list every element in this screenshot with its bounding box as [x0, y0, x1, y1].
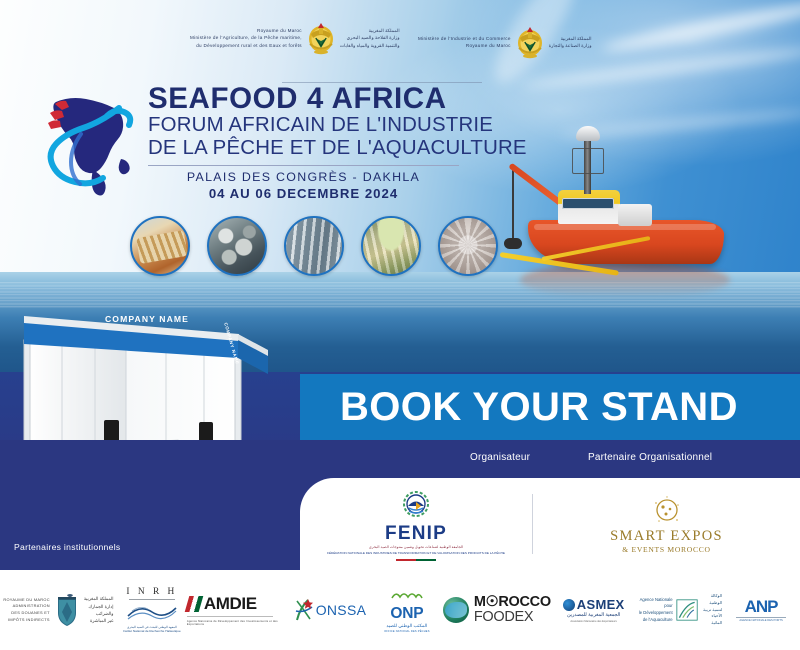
douanes-logo: ROYAUME DU MAROC ADMINISTRATION DES DOUA…: [0, 593, 117, 627]
ministry-industry-block: Ministère de l'Industrie et du Commerce …: [418, 24, 592, 60]
fenip-emblem-icon: [399, 489, 433, 523]
anp-subtitle: AGENCE NATIONALE DES PORTS: [736, 619, 786, 623]
anda-arabic-text: الوكالة الوطنية لتنمية تربية الأحياء الم…: [701, 593, 722, 627]
smart-expos-name: SMART EXPOS: [610, 529, 723, 544]
amdie-flag-bars-icon: [185, 596, 204, 612]
ministry-ar-text: المملكة المغربية وزارة الصناعة والتجارة: [549, 35, 592, 49]
smart-expos-subtitle: & EVENTS MOROCCO: [622, 545, 710, 554]
asmex-subtitle-ar: الجمعية المغربية للمصدرين: [563, 612, 625, 619]
inrh-title: I N R H: [123, 587, 181, 597]
onp-subtitle-ar: المكتب الوطني للصيد: [384, 623, 430, 630]
title-divider: [148, 165, 459, 166]
inrh-subtitle-fr: Institut National de Recherche Halieutiq…: [123, 629, 181, 633]
morocco-coat-of-arms: [516, 24, 544, 60]
organiser-label: Organisateur: [470, 452, 530, 463]
jarred-seafood-icon: [361, 216, 421, 276]
douanes-shield-icon: [54, 593, 80, 627]
onp-logo: ONP المكتب الوطني للصيد OFFICE NATIONAL …: [371, 587, 443, 633]
organisational-partner-label: Partenaire Organisationnel: [588, 452, 712, 463]
douanes-arabic-text: المملكة المغربية إدارة الجمارك والضرائب …: [84, 595, 114, 625]
octopus-icon: [438, 216, 498, 276]
onp-subtitle-fr: OFFICE NATIONAL DES PÊCHES: [384, 630, 430, 633]
partner-logo-strip: ROYAUME DU MAROC ADMINISTRATION DES DOUA…: [0, 570, 800, 650]
foodex-title-2: FOODEX: [474, 610, 551, 625]
asmex-title: ASMEX: [577, 597, 625, 612]
inrh-logo: I N R H المعهد الوطني للبحث في الصيد الب…: [117, 587, 187, 634]
anp-divider: [736, 617, 786, 618]
anda-emblem-icon: [676, 597, 698, 623]
anda-french-text: Agence Nationale pour le Développement d…: [636, 597, 672, 624]
onssa-star-icon: [294, 598, 314, 622]
oysters-icon: [207, 216, 267, 276]
foodex-title-1: M☉ROCCO: [474, 595, 551, 610]
subtitle-line-1: FORUM AFRICAIN DE L'INDUSTRIE: [148, 114, 478, 137]
canned-sardines-icon: [130, 216, 190, 276]
inrh-wave-icon: [126, 602, 178, 620]
foodex-globe-icon: [443, 597, 469, 623]
ministry-ar-text: المملكة المغربية وزارة الفلاحة والصيد ال…: [340, 27, 400, 48]
onp-birds-icon: [390, 590, 424, 600]
seafood-icon-row: [130, 216, 498, 276]
africa-map-logo: [33, 82, 145, 204]
ministry-fr-text: Ministère de l'Industrie et du Commerce …: [418, 35, 511, 49]
booth-company-name: COMPANY NAME: [72, 314, 222, 324]
anda-logo: Agence Nationale pour le Développement d…: [636, 593, 722, 627]
fresh-fish-icon: [284, 216, 344, 276]
institutional-partners-label: Partenaires institutionnels: [14, 542, 121, 552]
book-your-stand-label: BOOK YOUR STAND: [340, 385, 738, 430]
asmex-logo: ASMEX الجمعية المغربية للمصدرين Associat…: [551, 597, 637, 622]
onssa-logo: ONSSA: [289, 598, 371, 622]
fenip-logo: FENIP الجامعة الوطنية لصناعات تحويل وتثم…: [300, 478, 532, 570]
morocco-foodex-logo: M☉ROCCO FOODEX: [443, 595, 551, 625]
anp-title: ANP: [736, 598, 786, 615]
poster-root: Royaume du Maroc Ministère de l'Agricult…: [0, 0, 800, 650]
ministry-agriculture-block: Royaume du Maroc Ministère de l'Agricult…: [190, 20, 400, 56]
organiser-card: FENIP الجامعة الوطنية لصناعات تحويل وتثم…: [300, 478, 800, 570]
fenip-name: FENIP: [385, 524, 447, 543]
douanes-french-text: ROYAUME DU MAROC ADMINISTRATION DES DOUA…: [3, 597, 49, 624]
event-dates: 04 AU 06 DECEMBRE 2024: [148, 186, 459, 202]
inrh-divider: [129, 599, 175, 600]
fishing-vessel-photo: [480, 120, 800, 320]
asmex-subtitle-fr: Association Marocaine des Exportateurs: [563, 620, 625, 623]
amdie-divider: [187, 616, 273, 617]
asmex-dot-icon: [563, 599, 575, 611]
morocco-flag-bar: [396, 559, 436, 562]
onssa-title: ONSSA: [316, 602, 367, 618]
anp-logo: ANP AGENCE NATIONALE DES PORTS: [722, 598, 800, 623]
ministry-fr-text: Royaume du Maroc Ministère de l'Agricult…: [190, 27, 302, 48]
smart-expos-emblem-icon: [650, 494, 684, 528]
page-title: SEAFOOD 4 AFRICA: [148, 84, 478, 114]
subtitle-line-2: DE LA PÊCHE ET DE L'AQUACULTURE: [148, 137, 478, 160]
event-title-block: SEAFOOD 4 AFRICA FORUM AFRICAIN DE L'IND…: [148, 84, 478, 202]
venue-text: PALAIS DES CONGRÈS - DAKHLA: [148, 170, 459, 186]
morocco-coat-of-arms: [307, 20, 335, 56]
onp-title: ONP: [384, 605, 430, 623]
smart-expos-logo: SMART EXPOS & EVENTS MOROCCO: [533, 478, 800, 570]
amdie-subtitle: Agence Marocaine de Développement des In…: [187, 620, 289, 626]
book-your-stand-banner[interactable]: BOOK YOUR STAND: [300, 374, 800, 440]
amdie-title: AMDIE: [204, 594, 257, 614]
ministry-header: Royaume du Maroc Ministère de l'Agricult…: [0, 18, 800, 64]
fenip-arabic-text: الجامعة الوطنية لصناعات تحويل وتثمين منت…: [369, 545, 463, 550]
fenip-french-text: FÉDÉRATION NATIONALE DES INDUSTRIES DE T…: [327, 551, 505, 555]
amdie-logo: AMDIE Agence Marocaine de Développement …: [187, 594, 289, 626]
